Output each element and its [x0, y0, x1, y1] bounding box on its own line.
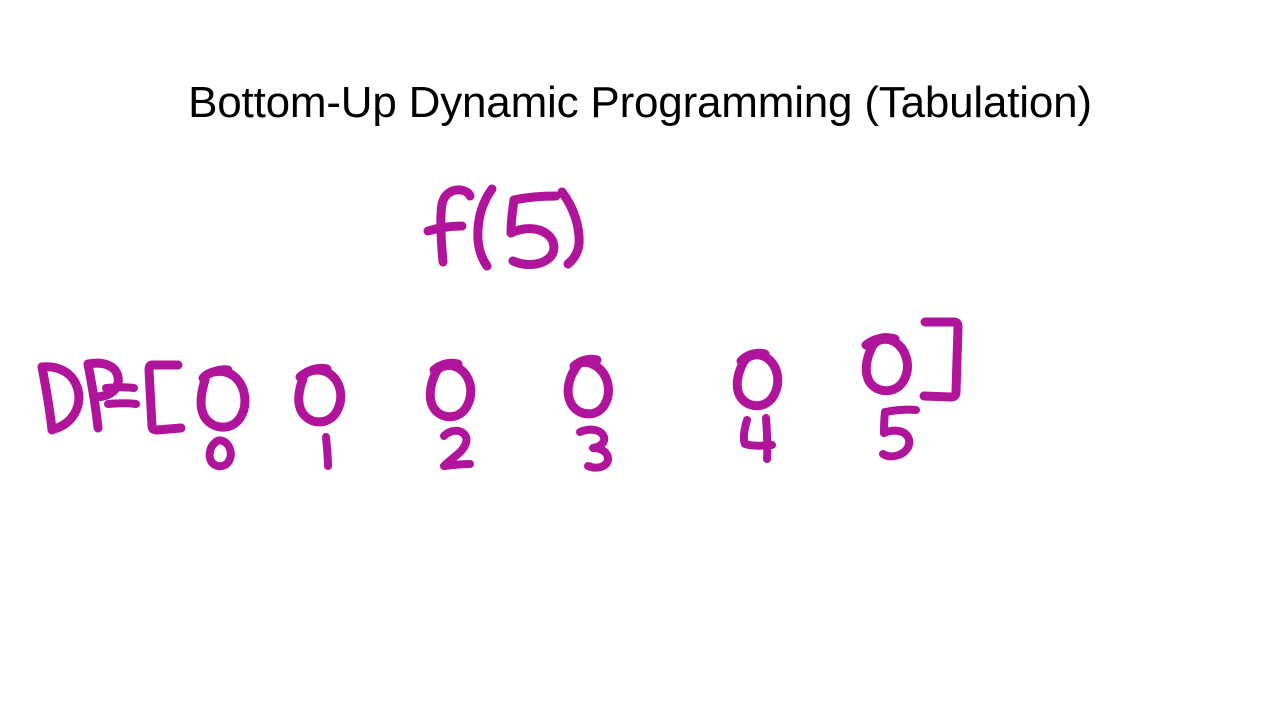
dp-array-equals-label: = [0, 0, 1, 1]
ink-call-expression [428, 189, 579, 266]
ink-dp-cell-1 [299, 368, 341, 466]
dp-cell-0-index: 0 [0, 0, 1, 1]
ink-dp-cell-5 [866, 338, 916, 457]
ink-dp-cell-2 [430, 363, 471, 466]
dp-array-open-bracket-label: [ [0, 0, 1, 1]
dp-cell-2-index: 2 [0, 0, 1, 1]
dp-array-close-bracket-label: ] [0, 0, 1, 1]
dp-cell-4-index: 4 [0, 0, 1, 1]
call-expression-label: f(5) [0, 0, 1, 1]
ink-dp-label [42, 363, 136, 430]
ink-close-bracket [924, 322, 958, 397]
ink-dp-cell-3 [568, 359, 608, 467]
page-title: Bottom-Up Dynamic Programming (Tabulatio… [0, 78, 1280, 128]
ink-open-bracket [149, 365, 181, 430]
ink-dp-cell-0 [201, 370, 245, 466]
dp-cell-4-value: 0 [0, 0, 1, 1]
dp-cell-2-value: 0 [0, 0, 1, 1]
dp-cell-3-value: 0 [0, 0, 1, 1]
ink-dp-cell-4 [737, 353, 778, 459]
dp-cell-1-index: 1 [0, 0, 1, 1]
dp-array-name-label: DP [0, 0, 1, 1]
dp-cell-1-value: 0 [0, 0, 1, 1]
dp-cell-5-value: 0 [0, 0, 1, 1]
dp-cell-3-index: 3 [0, 0, 1, 1]
dp-cell-5-index: 5 [0, 0, 1, 1]
dp-cell-0-value: 0 [0, 0, 1, 1]
